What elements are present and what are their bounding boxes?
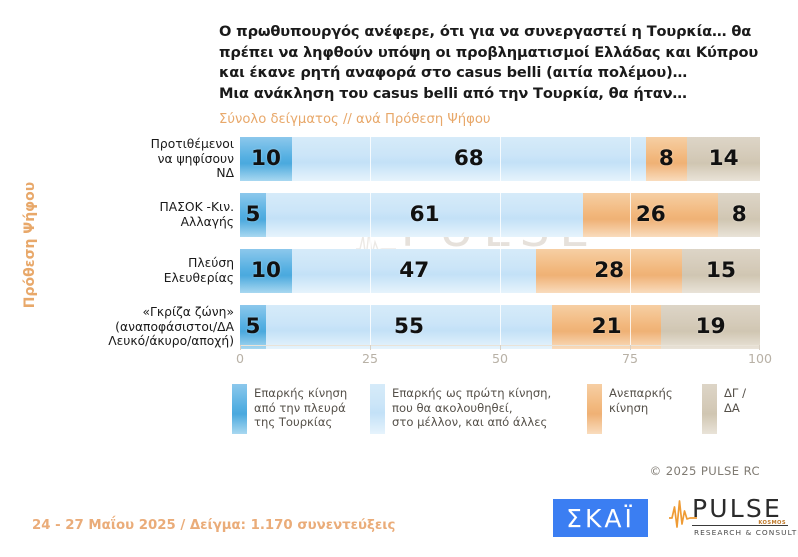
x-axis-tick-label: 0 — [236, 351, 244, 366]
legend-label-line: από την πλευρά — [254, 401, 347, 416]
bar-segment[interactable]: 10 — [240, 249, 292, 293]
bar-value-label: 5 — [246, 316, 261, 338]
bar-segment[interactable]: 8 — [718, 193, 760, 237]
bar-value-label: 10 — [251, 148, 281, 170]
bar-value-label: 15 — [706, 260, 736, 282]
bar-value-label: 68 — [454, 148, 484, 170]
legend-label: ΔΓ /ΔΑ — [724, 384, 746, 415]
category-axis-labels: Προτιθέμενοινα ψηφίσουνΝΔΠΑΣΟΚ -Κιν.Αλλα… — [62, 135, 234, 345]
copyright-text: © 2025 PULSE RC — [650, 464, 760, 478]
bar-segment[interactable]: 28 — [536, 249, 682, 293]
x-axis-tick — [370, 345, 371, 350]
legend-label-line: ΔΓ / — [724, 386, 746, 401]
title-line-3: και έκανε ρητή αναφορά στο casus belli (… — [219, 63, 759, 84]
category-label: «Γκρίζα ζώνη»(αναποφάσιστοι/ΔΑΛευκό/άκυρ… — [62, 305, 234, 349]
x-axis-tick — [240, 345, 241, 350]
legend-item[interactable]: Επαρκής ως πρώτη κίνηση,που θα ακολουθηθ… — [370, 384, 551, 434]
bar-value-label: 61 — [410, 204, 440, 226]
legend-label-line: Ανεπαρκής — [609, 386, 673, 401]
bar-value-label: 10 — [251, 260, 281, 282]
bar-value-label: 5 — [246, 204, 261, 226]
legend-swatch — [587, 384, 602, 434]
bar-value-label: 19 — [696, 316, 726, 338]
legend-item[interactable]: Ανεπαρκήςκίνηση — [587, 384, 673, 434]
category-label: Προτιθέμενοινα ψηφίσουνΝΔ — [62, 137, 234, 181]
pulse-logo-subtitle: RESEARCH & CONSULTING — [694, 528, 798, 537]
x-axis-tick-label: 100 — [748, 351, 772, 366]
x-axis: 0255075100 — [240, 345, 760, 371]
x-axis-tick-label: 25 — [362, 351, 378, 366]
x-axis-tick — [630, 345, 631, 350]
x-axis-tick — [759, 345, 760, 350]
category-label: ΠλεύσηΕλευθερίας — [62, 256, 234, 285]
bar-value-label: 55 — [394, 316, 424, 338]
bar-segment[interactable]: 10 — [240, 137, 292, 181]
legend-label: Επαρκής κίνησηαπό την πλευράτης Τουρκίας — [254, 384, 347, 430]
legend-label-line: της Τουρκίας — [254, 415, 347, 430]
legend-label-line: στο μέλλον, και από άλλες — [392, 415, 551, 430]
x-axis-tick-label: 75 — [622, 351, 638, 366]
bar-segment[interactable]: 15 — [682, 249, 760, 293]
bar-row: 10472815 — [240, 249, 760, 293]
pulse-logo-kosmos: KOSMOS — [758, 520, 786, 526]
category-label-line: Προτιθέμενοι — [62, 137, 234, 152]
bar-row: 561268 — [240, 193, 760, 237]
bar-value-label: 14 — [709, 148, 739, 170]
gridline — [760, 133, 761, 345]
category-label-line: Λευκό/άκυρο/αποχή) — [62, 334, 234, 349]
x-axis-tick-label: 50 — [492, 351, 508, 366]
bar-segment[interactable]: 47 — [292, 249, 536, 293]
bar-segment[interactable]: 61 — [266, 193, 583, 237]
y-axis-title: Πρόθεση Ψήφου — [22, 175, 38, 315]
bar-row: 1068814 — [240, 137, 760, 181]
bar-segment[interactable]: 19 — [661, 305, 760, 349]
bar-segment[interactable]: 26 — [583, 193, 718, 237]
legend-label-line: που θα ακολουθηθεί, — [392, 401, 551, 416]
category-label-line: ΠΑΣΟΚ -Κιν. — [62, 200, 234, 215]
bar-value-label: 8 — [732, 204, 747, 226]
pulse-logo: PULSE KOSMOS RESEARCH & CONSULTING — [668, 496, 788, 540]
bar-segment[interactable]: 21 — [552, 305, 661, 349]
category-label-line: Αλλαγής — [62, 215, 234, 230]
x-axis-tick — [500, 345, 501, 350]
category-label-line: Πλεύση — [62, 256, 234, 271]
legend-label: Επαρκής ως πρώτη κίνηση,που θα ακολουθηθ… — [392, 384, 551, 430]
chart-subtitle: Σύνολο δείγματος // ανά Πρόθεση Ψήφου — [219, 112, 491, 127]
bar-segment[interactable]: 8 — [646, 137, 688, 181]
bar-segment[interactable]: 5 — [240, 193, 266, 237]
title-line-4: Μια ανάκληση του casus belli από την Του… — [219, 84, 759, 105]
category-label-line: Ελευθερίας — [62, 271, 234, 286]
title-line-1: Ο πρωθυπουργός ανέφερε, ότι για να συνερ… — [219, 22, 759, 43]
legend-label-line: Επαρκής κίνηση — [254, 386, 347, 401]
bar-value-label: 8 — [659, 148, 674, 170]
legend-label-line: ΔΑ — [724, 401, 746, 416]
category-label-line: ΝΔ — [62, 166, 234, 181]
bar-segment[interactable]: 55 — [266, 305, 552, 349]
skai-logo-text: ΣΚΑΪ — [566, 506, 635, 531]
legend-item[interactable]: Επαρκής κίνησηαπό την πλευράτης Τουρκίας — [232, 384, 347, 434]
category-label-line: (αναποφάσιστοι/ΔΑ — [62, 320, 234, 335]
category-label-line: «Γκρίζα ζώνη» — [62, 305, 234, 320]
bar-row: 5552119 — [240, 305, 760, 349]
legend-label-line: κίνηση — [609, 401, 673, 416]
legend-label: Ανεπαρκήςκίνηση — [609, 384, 673, 415]
bar-segment[interactable]: 14 — [687, 137, 760, 181]
category-label-line: να ψηφίσουν — [62, 152, 234, 167]
legend-item[interactable]: ΔΓ /ΔΑ — [702, 384, 746, 434]
chart-title-block: Ο πρωθυπουργός ανέφερε, ότι για να συνερ… — [219, 22, 759, 104]
pulse-logo-word: PULSE — [692, 496, 782, 521]
legend-swatch — [702, 384, 717, 434]
bar-value-label: 47 — [399, 260, 429, 282]
bar-value-label: 28 — [594, 260, 624, 282]
legend-label-line: Επαρκής ως πρώτη κίνηση, — [392, 386, 551, 401]
title-line-2: πρέπει να ληφθούν υπόψη οι προβληματισμο… — [219, 43, 759, 64]
bar-value-label: 26 — [636, 204, 666, 226]
bar-segment[interactable]: 5 — [240, 305, 266, 349]
skai-logo: ΣΚΑΪ — [553, 499, 648, 537]
category-label: ΠΑΣΟΚ -Κιν.Αλλαγής — [62, 200, 234, 229]
fieldwork-date-sample: 24 - 27 Μαΐου 2025 / Δείγμα: 1.170 συνεν… — [32, 518, 395, 533]
legend-swatch — [370, 384, 385, 434]
bar-value-label: 21 — [592, 316, 622, 338]
chart-legend: Επαρκής κίνησηαπό την πλευράτης Τουρκίας… — [232, 384, 762, 442]
plot-area: PULSE RESEARCH & CONSULTING 106881456126… — [240, 133, 760, 345]
bar-segment[interactable]: 68 — [292, 137, 646, 181]
legend-swatch — [232, 384, 247, 434]
